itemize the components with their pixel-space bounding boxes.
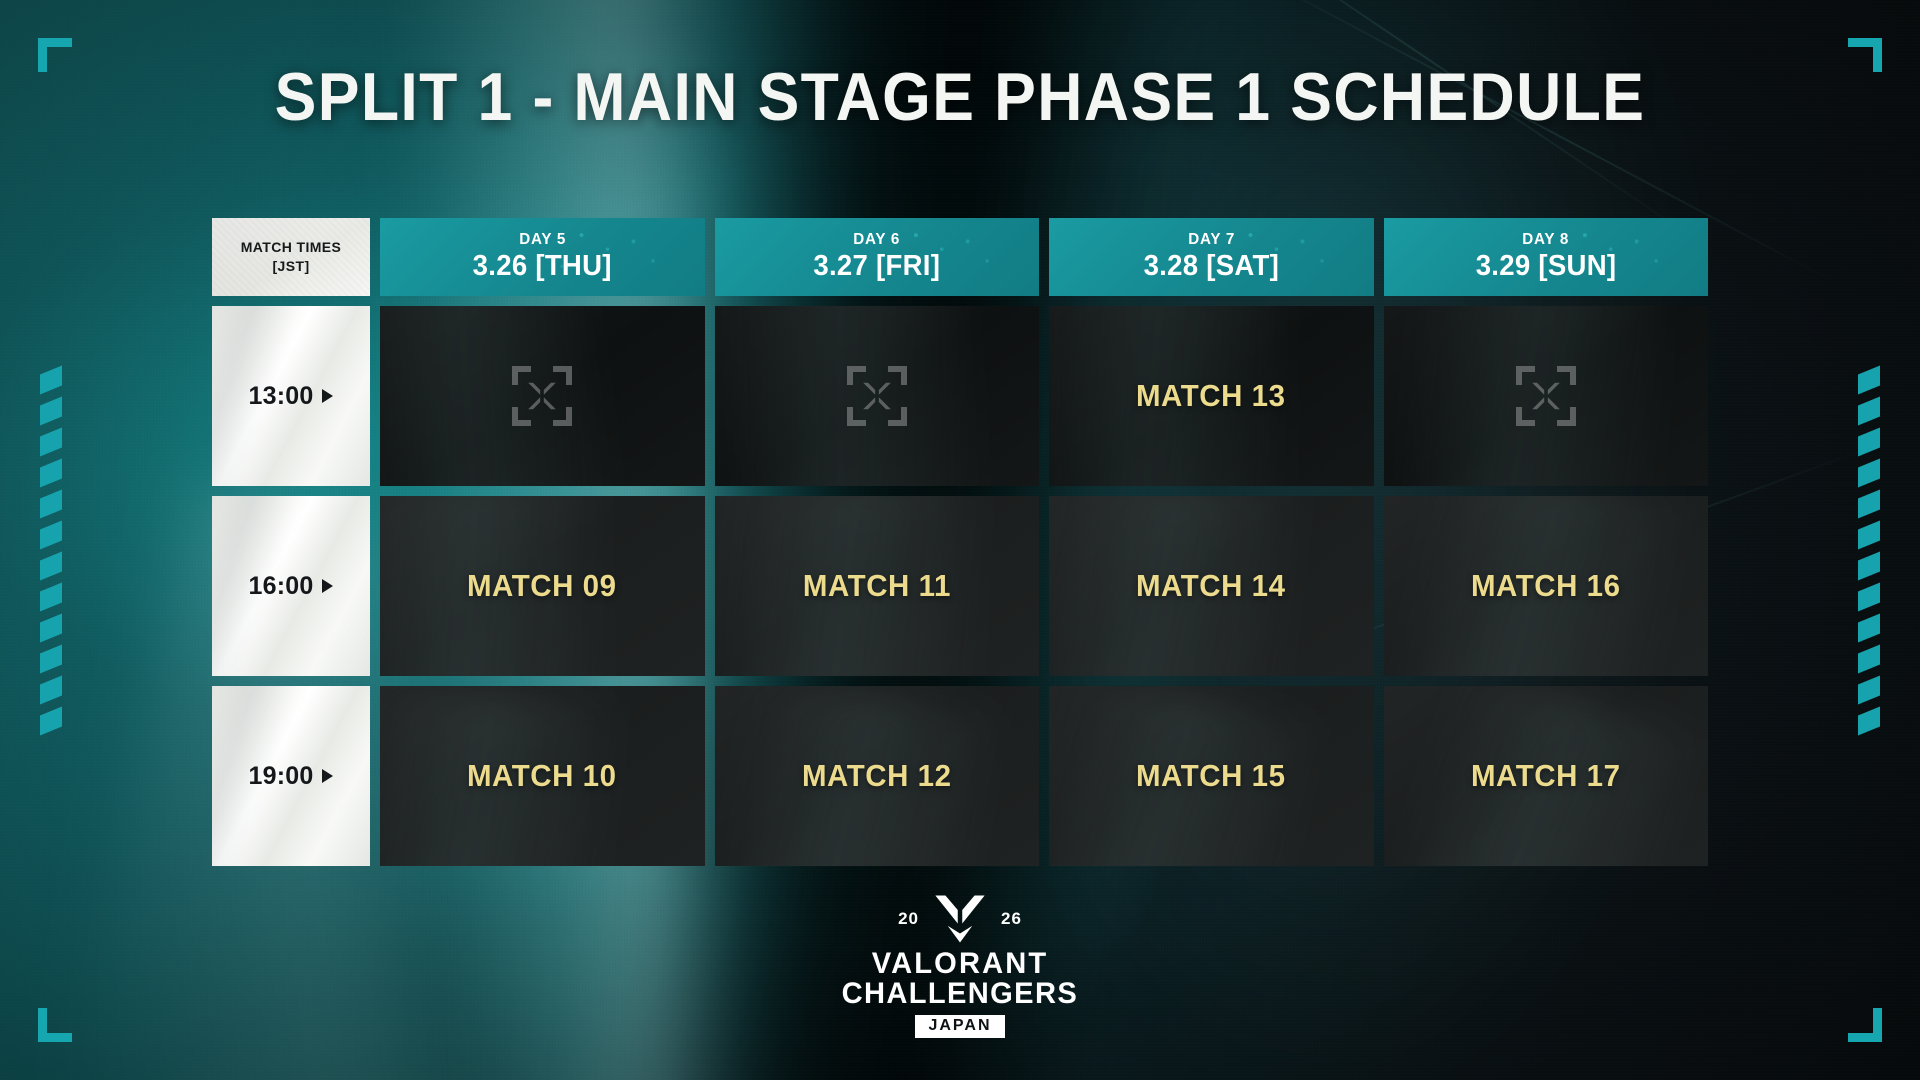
page-title: SPLIT 1 - MAIN STAGE PHASE 1 SCHEDULE	[77, 58, 1843, 136]
time-slot-cell: 16:00	[212, 496, 370, 676]
match-cell[interactable]: MATCH 15	[1049, 686, 1374, 866]
triangle-right-icon	[322, 389, 333, 403]
valorant-x-icon	[932, 891, 988, 947]
time-slot-cell: 19:00	[212, 686, 370, 866]
dash-rail-icon	[40, 583, 62, 612]
corner-bracket-icon	[1848, 1008, 1882, 1042]
event-logo: 20 26 VALORANT CHALLENGERS JAPAN	[795, 891, 1125, 1038]
logo-mark-row: 20 26	[898, 891, 1022, 947]
triangle-right-icon	[322, 579, 333, 593]
day-date-label: 3.29 [SUN]	[1475, 250, 1616, 283]
match-cell[interactable]: MATCH 14	[1049, 496, 1374, 676]
valorant-x-glyph	[527, 381, 557, 411]
dash-rail-icon	[1858, 397, 1880, 426]
dash-rail-icon	[1858, 707, 1880, 736]
valorant-x-glyph	[1531, 381, 1561, 411]
dash-rail-icon	[1858, 366, 1880, 395]
dash-rail-icon	[40, 490, 62, 519]
match-cell-tbd[interactable]	[380, 306, 705, 486]
dash-rail-icon	[1858, 459, 1880, 488]
time-slot-label-wrap: 13:00	[249, 382, 334, 411]
dash-rail-icon	[40, 552, 62, 581]
match-label: MATCH 12	[802, 758, 952, 794]
valorant-x-placeholder-icon	[1516, 366, 1576, 426]
corner-bracket-icon	[1848, 38, 1882, 72]
dash-rail-icon	[1858, 521, 1880, 550]
time-slot-cell: 13:00	[212, 306, 370, 486]
dash-rail-icon	[1858, 645, 1880, 674]
day-date-label: 3.26 [THU]	[473, 250, 612, 283]
day-header-2: DAY 63.27 [FRI]	[715, 218, 1040, 296]
day-header-3: DAY 73.28 [SAT]	[1049, 218, 1374, 296]
match-times-label-line2: [JST]	[273, 257, 310, 276]
match-cell[interactable]: MATCH 12	[715, 686, 1040, 866]
match-times-header: MATCH TIMES[JST]	[212, 218, 370, 296]
match-cell-tbd[interactable]	[715, 306, 1040, 486]
time-slot-label-wrap: 19:00	[249, 762, 334, 791]
dash-rail-icon	[1858, 583, 1880, 612]
dash-rail-icon	[1858, 428, 1880, 457]
day-number-label: DAY 5	[519, 231, 566, 249]
schedule-graphic: SPLIT 1 - MAIN STAGE PHASE 1 SCHEDULE MA…	[0, 0, 1920, 1080]
corner-bracket-icon	[38, 38, 72, 72]
match-label: MATCH 16	[1471, 568, 1621, 604]
day-date-label: 3.28 [SAT]	[1143, 250, 1279, 283]
match-label: MATCH 11	[803, 568, 951, 604]
logo-region-badge: JAPAN	[915, 1015, 1004, 1038]
match-label: MATCH 15	[1136, 758, 1286, 794]
time-slot-label-wrap: 16:00	[249, 572, 334, 601]
dash-rail-right	[1858, 370, 1880, 731]
schedule-grid: MATCH TIMES[JST]DAY 53.26 [THU]DAY 63.27…	[212, 218, 1708, 866]
dash-rail-icon	[40, 428, 62, 457]
day-number-label: DAY 6	[853, 231, 900, 249]
dash-rail-icon	[40, 676, 62, 705]
dash-rail-icon	[1858, 552, 1880, 581]
dash-rail-icon	[40, 397, 62, 426]
match-cell[interactable]: MATCH 17	[1384, 686, 1709, 866]
match-cell-tbd[interactable]	[1384, 306, 1709, 486]
dash-rail-icon	[40, 459, 62, 488]
match-label: MATCH 17	[1471, 758, 1621, 794]
match-times-label-line1: MATCH TIMES	[241, 238, 342, 257]
time-slot-label: 16:00	[249, 572, 314, 601]
logo-year-left: 20	[898, 909, 919, 929]
match-label: MATCH 09	[467, 568, 617, 604]
logo-year-right: 26	[1001, 909, 1022, 929]
match-label: MATCH 10	[467, 758, 617, 794]
dash-rail-icon	[40, 521, 62, 550]
day-header-1: DAY 53.26 [THU]	[380, 218, 705, 296]
logo-name-line2: CHALLENGERS	[842, 979, 1078, 1010]
day-number-label: DAY 8	[1522, 231, 1569, 249]
valorant-x-glyph	[862, 381, 892, 411]
match-cell[interactable]: MATCH 10	[380, 686, 705, 866]
match-cell[interactable]: MATCH 09	[380, 496, 705, 676]
schedule-table: MATCH TIMES[JST]DAY 53.26 [THU]DAY 63.27…	[212, 218, 1708, 866]
dash-rail-icon	[1858, 614, 1880, 643]
match-cell[interactable]: MATCH 11	[715, 496, 1040, 676]
dash-rail-icon	[1858, 676, 1880, 705]
time-slot-label: 19:00	[249, 762, 314, 791]
dash-rail-icon	[40, 707, 62, 736]
dash-rail-icon	[1858, 490, 1880, 519]
cell-wisp-texture	[380, 306, 624, 486]
logo-name-line1: VALORANT	[872, 949, 1049, 980]
match-cell[interactable]: MATCH 13	[1049, 306, 1374, 486]
day-number-label: DAY 7	[1188, 231, 1235, 249]
dash-rail-left	[40, 370, 62, 731]
valorant-x-placeholder-icon	[847, 366, 907, 426]
match-label: MATCH 14	[1136, 568, 1286, 604]
corner-bracket-icon	[38, 1008, 72, 1042]
dash-rail-icon	[40, 645, 62, 674]
match-cell[interactable]: MATCH 16	[1384, 496, 1709, 676]
dash-rail-icon	[40, 614, 62, 643]
triangle-right-icon	[322, 769, 333, 783]
day-date-label: 3.27 [FRI]	[813, 250, 940, 283]
dash-rail-icon	[40, 366, 62, 395]
time-slot-label: 13:00	[249, 382, 314, 411]
day-header-4: DAY 83.29 [SUN]	[1384, 218, 1709, 296]
valorant-x-placeholder-icon	[512, 366, 572, 426]
match-label: MATCH 13	[1136, 378, 1286, 414]
